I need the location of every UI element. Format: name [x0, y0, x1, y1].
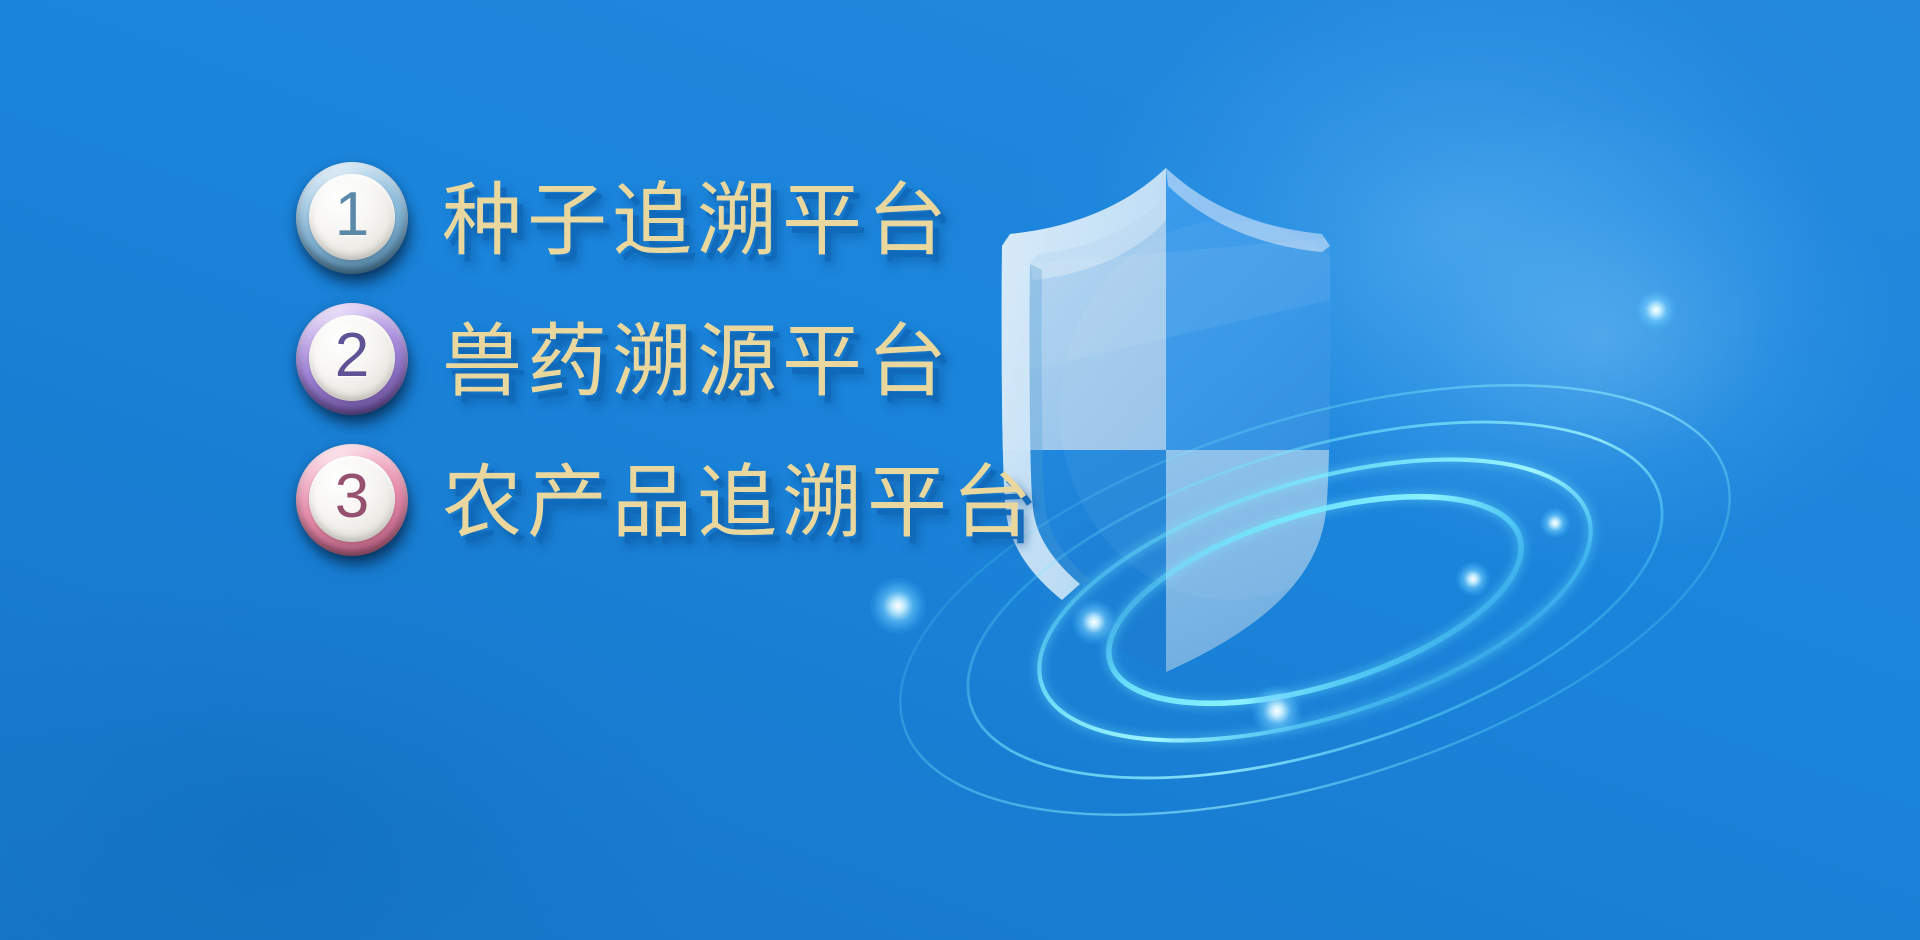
platform-list: 1 种子追溯平台 2 兽药溯源平台 3: [296, 150, 1116, 573]
list-item[interactable]: 2 兽药溯源平台: [296, 291, 1116, 432]
badge-label: 1: [335, 184, 369, 246]
badge-face: 3: [309, 456, 395, 542]
badge-number-3[interactable]: 3: [296, 444, 414, 562]
badge-face: 2: [309, 315, 395, 401]
badge-label: 2: [335, 325, 369, 387]
platform-title: 种子追溯平台: [442, 181, 952, 261]
platform-title: 兽药溯源平台: [442, 322, 952, 402]
badge-label: 3: [335, 466, 369, 528]
platform-title: 农产品追溯平台: [442, 463, 1037, 543]
list-item[interactable]: 1 种子追溯平台: [296, 150, 1116, 291]
badge-face: 1: [309, 174, 395, 260]
badge-number-2[interactable]: 2: [296, 303, 414, 421]
list-item[interactable]: 3 农产品追溯平台: [296, 432, 1116, 573]
badge-number-1[interactable]: 1: [296, 162, 414, 280]
banner-canvas: 1 种子追溯平台 2 兽药溯源平台 3: [0, 0, 1920, 940]
